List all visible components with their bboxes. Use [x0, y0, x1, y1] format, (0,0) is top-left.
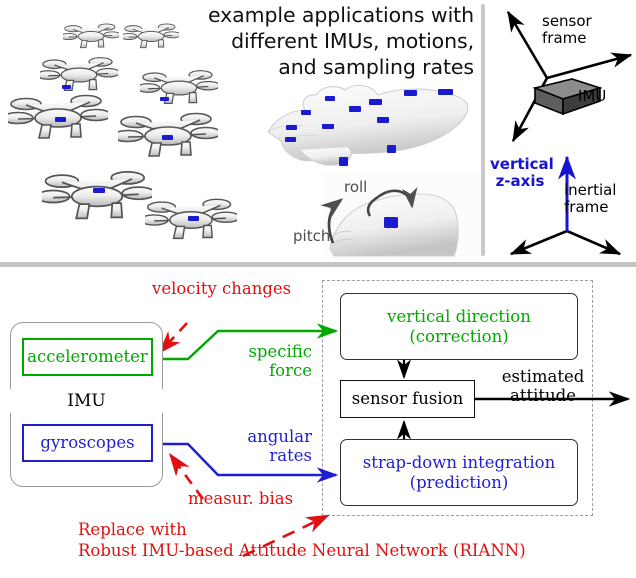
gyroscopes-block[interactable]: gyroscopes — [22, 424, 153, 462]
inertial-frame-axes — [511, 231, 620, 254]
estimated-attitude-line2: attitude — [489, 386, 597, 405]
velocity-changes-arrow — [162, 323, 187, 350]
specific-force-line1: specific — [216, 342, 312, 361]
block-diagram-panel: IMU accelerometer gyroscopes vertical di… — [0, 267, 636, 578]
angular-rates-line1: angular — [216, 427, 312, 446]
figure-root: example applications with different IMUs… — [0, 0, 636, 578]
drone-3 — [37, 58, 120, 91]
specific-force-line2: force — [216, 361, 312, 380]
headline-line-3: and sampling rates — [152, 54, 474, 80]
inertial-label-line2: frame — [564, 199, 616, 216]
strap-down-integration-block[interactable]: strap-down integration (prediction) — [340, 439, 578, 506]
imu-3d-label: IMU — [578, 88, 606, 105]
accelerometer-block[interactable]: accelerometer — [22, 338, 153, 376]
vertical-z-axis-label: vertical z-axis — [490, 156, 550, 190]
vertical-direction-line2: (correction) — [387, 327, 531, 346]
hand-illustration — [268, 85, 468, 166]
headline-line-2: different IMUs, motions, — [152, 28, 474, 54]
vertical-label-line2: z-axis — [490, 173, 550, 190]
measur-bias-annotation: measur. bias — [188, 489, 293, 509]
sensor-frame-label-line2: frame — [542, 30, 592, 47]
pitch-label: pitch — [293, 227, 330, 245]
vertical-label-line1: vertical — [490, 156, 550, 173]
riann-annotation: Robust IMU-based Attitude Neural Network… — [78, 541, 526, 561]
strap-down-line2: (prediction) — [363, 473, 556, 492]
sensor-frame-label-line1: sensor — [542, 13, 592, 30]
page-title: example applications with different IMUs… — [152, 2, 474, 80]
specific-force-label: specific force — [216, 342, 312, 380]
drone-small-1 — [60, 24, 120, 48]
inertial-frame-label: inertial frame — [564, 182, 616, 216]
roll-label: roll — [344, 178, 367, 196]
strap-down-line1: strap-down integration — [363, 453, 556, 472]
drone-5 — [3, 96, 111, 139]
vertical-direction-line1: vertical direction — [387, 307, 531, 326]
foot-imu-chip — [384, 217, 398, 228]
vertical-direction-block[interactable]: vertical direction (correction) — [340, 293, 578, 360]
drone-7 — [37, 172, 155, 219]
angular-rates-line2: rates — [216, 446, 312, 465]
inertial-label-line1: inertial — [564, 182, 616, 199]
estimated-attitude-line1: estimated — [489, 367, 597, 386]
angular-rates-label: angular rates — [216, 427, 312, 465]
headline-line-1: example applications with — [152, 2, 474, 28]
drone-6 — [113, 114, 221, 157]
sensor-fusion-block[interactable]: sensor fusion — [340, 380, 475, 418]
replace-with-annotation: Replace with — [78, 520, 187, 540]
imu-group-label: IMU — [10, 389, 163, 413]
panel-vertical-separator — [481, 4, 485, 256]
estimated-attitude-label: estimated attitude — [489, 367, 597, 405]
sensor-frame-label: sensor frame — [542, 13, 592, 47]
top-panel-example-applications: example applications with different IMUs… — [0, 0, 636, 262]
velocity-changes-annotation: velocity changes — [152, 279, 291, 299]
